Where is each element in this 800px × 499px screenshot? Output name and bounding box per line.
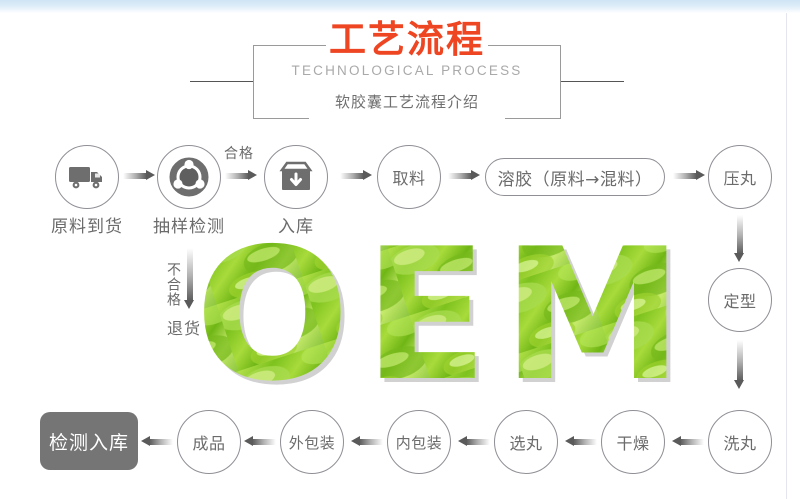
node-test-stock[interactable]: 检测入库 xyxy=(40,412,138,470)
node-shaping[interactable]: 定型 xyxy=(708,268,772,332)
node-press-pill[interactable]: 压丸 xyxy=(708,145,772,209)
inbox-arrow-down-icon xyxy=(279,161,313,193)
arrow-wash-to-drying xyxy=(672,436,704,447)
node-warehousing[interactable] xyxy=(264,145,328,209)
top-accent-band xyxy=(0,0,800,13)
arrow-take-to-solgel xyxy=(448,170,480,181)
page-title: 工艺流程 xyxy=(253,20,561,60)
arrow-fail-down xyxy=(184,248,195,310)
header: 工艺流程 TECHNOLOGICAL PROCESS 软胶囊工艺流程介绍 xyxy=(0,18,800,118)
header-bracket-left-bottom xyxy=(253,118,309,119)
header-bracket-right-arm xyxy=(560,81,624,82)
node-test-stock-label: 检测入库 xyxy=(49,428,129,455)
node-finished-label: 成品 xyxy=(192,430,225,454)
arrow-shaping-to-wash xyxy=(734,340,745,390)
arrow-press-to-shaping xyxy=(734,215,745,263)
truck-icon xyxy=(68,163,106,191)
arrow-warehouse-to-take xyxy=(340,170,372,181)
node-outer-package[interactable]: 外包装 xyxy=(280,410,344,474)
node-select-pill[interactable]: 选丸 xyxy=(494,410,558,474)
node-raw-arrival[interactable] xyxy=(55,145,119,209)
page-title-english: TECHNOLOGICAL PROCESS xyxy=(253,63,561,79)
label-pass: 合格 xyxy=(224,143,254,163)
node-sol-gel-label: 溶胶（原料→混料） xyxy=(498,165,653,190)
node-take-material-label: 取料 xyxy=(392,165,425,189)
svg-text:OEM: OEM xyxy=(195,238,697,408)
node-inner-package-label: 内包装 xyxy=(396,432,443,453)
caption-sampling-test: 抽样检测 xyxy=(119,212,259,237)
label-return: 退货 xyxy=(167,315,201,339)
arrow-inner-to-outer xyxy=(351,436,383,447)
node-drying-label: 干燥 xyxy=(616,430,649,454)
node-select-pill-label: 选丸 xyxy=(509,430,542,454)
svg-text:OEM: OEM xyxy=(199,238,700,408)
node-outer-package-label: 外包装 xyxy=(289,432,336,453)
page-subtitle: 软胶囊工艺流程介绍 xyxy=(253,92,561,112)
arrow-sampling-to-warehouse xyxy=(225,170,257,181)
node-wash-pill[interactable]: 洗丸 xyxy=(708,410,772,474)
node-finished[interactable]: 成品 xyxy=(177,410,241,474)
node-sampling-test[interactable] xyxy=(157,145,221,209)
node-press-pill-label: 压丸 xyxy=(723,165,756,189)
inspection-icon xyxy=(169,157,209,197)
arrow-raw-to-sampling xyxy=(123,170,155,181)
header-bracket-left-arm xyxy=(190,81,254,82)
node-drying[interactable]: 干燥 xyxy=(601,410,665,474)
arrow-outer-to-finished xyxy=(244,436,276,447)
label-fail: 不合格 xyxy=(163,262,183,307)
arrow-drying-to-select xyxy=(565,436,597,447)
node-inner-package[interactable]: 内包装 xyxy=(387,410,451,474)
node-shaping-label: 定型 xyxy=(723,288,756,312)
oem-watermark: OEM OEM xyxy=(195,238,700,408)
caption-warehousing: 入库 xyxy=(246,212,346,237)
header-bracket-right-bottom xyxy=(505,118,561,119)
arrow-select-to-inner xyxy=(458,436,490,447)
arrow-finished-to-stock xyxy=(141,436,173,447)
arrow-solgel-to-press xyxy=(673,170,705,181)
node-take-material[interactable]: 取料 xyxy=(377,145,441,209)
process-flow-infographic: 工艺流程 TECHNOLOGICAL PROCESS 软胶囊工艺流程介绍 xyxy=(0,0,800,499)
node-sol-gel[interactable]: 溶胶（原料→混料） xyxy=(485,158,665,196)
node-wash-pill-label: 洗丸 xyxy=(723,430,756,454)
